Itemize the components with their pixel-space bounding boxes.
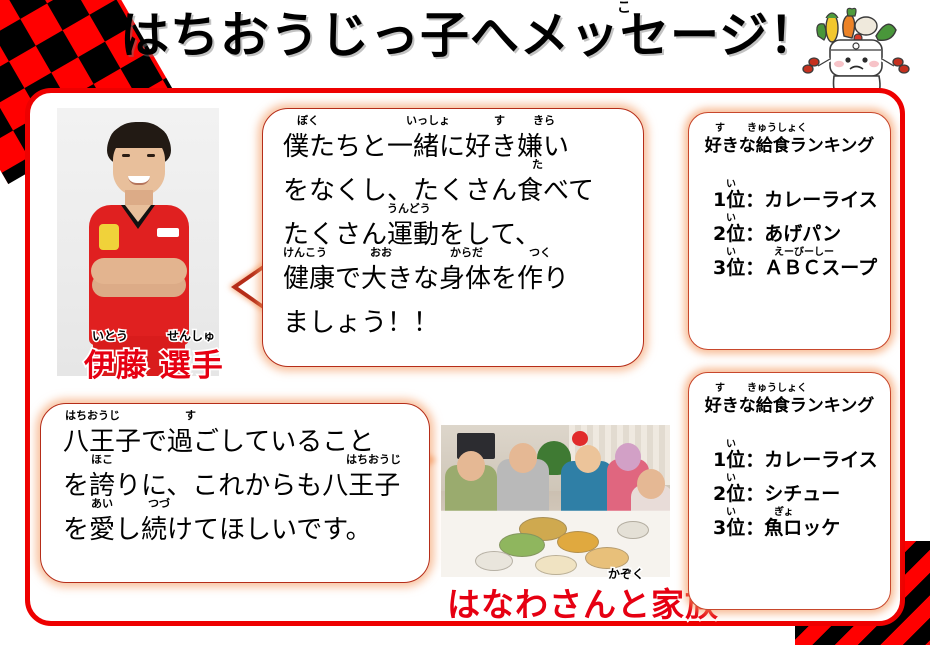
ranking-player-item: いえーびーしー3位：ＡＢＣスープ xyxy=(713,251,880,285)
message-family-furigana: つづ xyxy=(148,498,170,509)
message-family-text: を誇りに、これからも八王子 xyxy=(63,471,400,501)
ranking-family-item-furigana: い xyxy=(726,508,736,518)
ranking-player-item-furigana: えーびーしー xyxy=(774,248,834,258)
message-family-furigana: はちおうじ xyxy=(346,454,401,465)
ranking-player-item-text: 2位：あげパン xyxy=(713,223,841,245)
ranking-family-item-text: 3位：魚ロッケ xyxy=(713,517,840,539)
message-player-furigana: からだ xyxy=(450,247,483,258)
ranking-family-title-text: 好きな給食ランキング xyxy=(705,396,875,416)
ranking-player-item-furigana: い xyxy=(726,214,736,224)
message-family-furigana: はちおうじ xyxy=(65,410,120,421)
ranking-player-title-text: 好きな給食ランキング xyxy=(705,136,875,156)
title-row: はちおうじっ子へメッセージ！ こ xyxy=(0,4,930,90)
message-player-furigana: ぼく xyxy=(297,115,319,126)
ranking-family-item-furigana: い xyxy=(726,440,736,450)
player-caption: 伊藤 選手 xyxy=(84,340,224,385)
ranking-family-title-furigana: きゅうしょく xyxy=(747,384,807,394)
ranking-family-item-furigana: ぎょ xyxy=(774,508,794,518)
ranking-title: すきゅうしょく好きな給食ランキング xyxy=(699,395,880,417)
family-caption: はなわさんと家族 xyxy=(447,578,719,626)
page-title-furigana: こ xyxy=(617,0,631,17)
ranking-player-item-text: 1位：カレーライス xyxy=(713,189,878,211)
ranking-family-item-text: 2位：シチュー xyxy=(713,483,840,505)
page-title-text: はちおうじっ子へメッセージ！ xyxy=(120,10,810,62)
message-player-furigana: うんどう xyxy=(387,203,431,214)
ranking-player-item-furigana: い xyxy=(726,248,736,258)
message-bubble-player: ぼくいっしょすきら僕たちと一緒に好き嫌いたをなくし、たくさん食べてうんどうたくさ… xyxy=(262,108,644,367)
ranking-title: すきゅうしょく好きな給食ランキング xyxy=(699,135,880,157)
ranking-player-title-furigana: す xyxy=(715,124,725,134)
message-family-line: あいつづを愛し続けてほしいです。 xyxy=(63,508,415,552)
message-family-furigana: ほこ xyxy=(91,454,113,465)
message-family-text: を愛し続けてほしいです。 xyxy=(63,515,372,545)
ranking-player-item: い2位：あげパン xyxy=(713,217,880,251)
message-family-furigana: あい xyxy=(91,498,113,509)
ranking-family-item-furigana: い xyxy=(726,474,736,484)
message-player-text: ましょう！！ xyxy=(283,308,439,338)
ranking-list: い1位：カレーライスい2位：あげパンいえーびーしー3位：ＡＢＣスープ xyxy=(699,183,880,285)
ranking-player-item-furigana: い xyxy=(726,180,736,190)
message-player-line: けんこうおおからだつく健康で大きな身体を作り xyxy=(283,257,629,301)
message-player-line: ぼくいっしょすきら僕たちと一緒に好き嫌い xyxy=(283,125,629,169)
message-player-text: 健康で大きな身体を作り xyxy=(283,264,569,294)
ranking-family-item-text: 1位：カレーライス xyxy=(713,449,878,471)
ranking-family-item: い1位：カレーライス xyxy=(713,443,880,477)
message-player-furigana: きら xyxy=(533,115,555,126)
message-player-text: をなくし、たくさん食べて xyxy=(283,176,594,206)
message-player-line: ましょう！！ xyxy=(283,301,629,345)
ranking-family-title-furigana: す xyxy=(715,384,725,394)
message-player-line: たをなくし、たくさん食べて xyxy=(283,169,629,213)
message-player-furigana: す xyxy=(494,115,505,126)
ranking-list: い1位：カレーライスい2位：シチューいぎょ3位：魚ロッケ xyxy=(699,443,880,545)
message-family-line: ほこはちおうじを誇りに、これからも八王子 xyxy=(63,464,415,508)
ranking-player-item-text: 3位：ＡＢＣスープ xyxy=(713,257,877,279)
message-player-text: 僕たちと一緒に好き嫌い xyxy=(283,132,569,162)
ranking-box-family: すきゅうしょく好きな給食ランキング い1位：カレーライスい2位：シチューいぎょ3… xyxy=(688,372,891,610)
ranking-family-item: い2位：シチュー xyxy=(713,477,880,511)
page-title: はちおうじっ子へメッセージ！ こ xyxy=(120,10,810,62)
message-player-furigana: おお xyxy=(370,247,392,258)
message-family-furigana: す xyxy=(185,410,196,421)
poster-root: はちおうじっ子へメッセージ！ こ xyxy=(0,0,930,645)
message-player-furigana: つく xyxy=(529,247,551,258)
ranking-player-title-furigana: きゅうしょく xyxy=(747,124,807,134)
ranking-box-player: すきゅうしょく好きな給食ランキング い1位：カレーライスい2位：あげパンいえーび… xyxy=(688,112,891,350)
message-bubble-family: はちおうじす八王子で過ごしていることほこはちおうじを誇りに、これからも八王子あい… xyxy=(40,403,430,583)
message-player-furigana: けんこう xyxy=(283,247,327,258)
ranking-player-item: い1位：カレーライス xyxy=(713,183,880,217)
family-photo xyxy=(441,425,670,577)
message-player-furigana: いっしょ xyxy=(406,115,450,126)
message-player-furigana: た xyxy=(532,159,543,170)
ranking-family-item: いぎょ3位：魚ロッケ xyxy=(713,511,880,545)
